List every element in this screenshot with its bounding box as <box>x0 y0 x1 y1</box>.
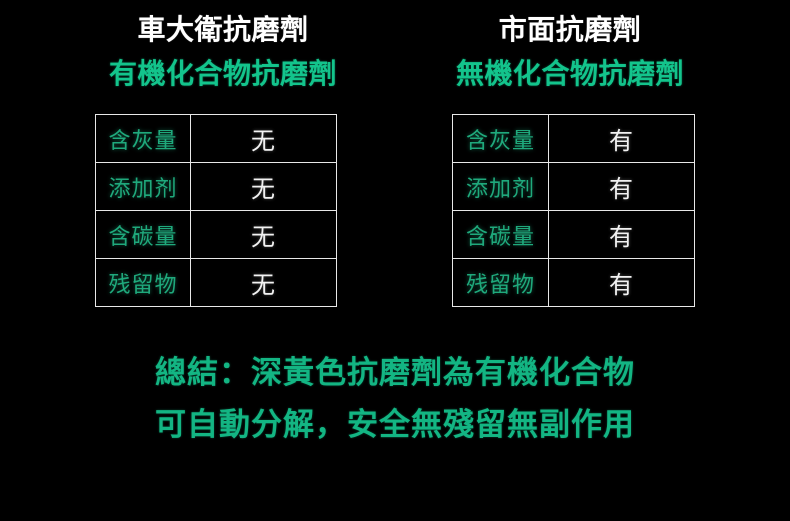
table-cell-label: 含灰量 <box>96 115 191 163</box>
table-cell-value: 无 <box>191 115 337 163</box>
table-cell-value: 有 <box>549 163 695 211</box>
column-title-right: 市面抗磨劑 <box>404 16 736 48</box>
row-label: 含灰量 <box>108 129 177 154</box>
table-cell-label: 添加剂 <box>96 163 191 211</box>
table-cell-value: 有 <box>549 211 695 259</box>
table-cell-label: 含碳量 <box>453 211 549 259</box>
table-row: 残留物 有 <box>453 259 695 307</box>
table-row: 含碳量 无 <box>96 211 337 259</box>
row-value: 有 <box>609 271 634 299</box>
column-subtitle-left: 有機化合物抗磨劑 <box>58 60 388 92</box>
table-row: 添加剂 有 <box>453 163 695 211</box>
table-cell-value: 有 <box>549 115 695 163</box>
table-cell-label: 残留物 <box>453 259 549 307</box>
comparison-table-right: 含灰量 有 添加剂 有 含碳量 有 <box>452 114 695 307</box>
conclusion-block: 總結：深黃色抗磨劑為有機化合物 可自動分解，安全無殘留無副作用 <box>0 358 790 441</box>
row-label: 含碳量 <box>466 225 535 250</box>
row-value: 有 <box>609 127 634 155</box>
table-cell-value: 无 <box>191 211 337 259</box>
table-cell-value: 无 <box>191 163 337 211</box>
row-value: 无 <box>251 271 276 299</box>
row-label: 含灰量 <box>466 129 535 154</box>
table-row: 含灰量 有 <box>453 115 695 163</box>
table-cell-label: 添加剂 <box>453 163 549 211</box>
row-value: 无 <box>251 127 276 155</box>
row-label: 含碳量 <box>108 225 177 250</box>
table-cell-value: 有 <box>549 259 695 307</box>
row-value: 有 <box>609 223 634 251</box>
table-row: 残留物 无 <box>96 259 337 307</box>
slide-canvas: 車大衛抗磨劑 有機化合物抗磨劑 市面抗磨劑 無機化合物抗磨劑 含灰量 无 添加剂 <box>0 0 790 521</box>
table-cell-label: 含碳量 <box>96 211 191 259</box>
row-label: 添加剂 <box>466 177 535 202</box>
conclusion-line-2: 可自動分解，安全無殘留無副作用 <box>0 410 790 441</box>
column-title-left: 車大衛抗磨劑 <box>58 16 388 48</box>
row-value: 有 <box>609 175 634 203</box>
table-cell-label: 残留物 <box>96 259 191 307</box>
table-cell-value: 无 <box>191 259 337 307</box>
row-label: 残留物 <box>108 273 177 298</box>
column-subtitle-right: 無機化合物抗磨劑 <box>404 60 736 92</box>
row-label: 添加剂 <box>108 177 177 202</box>
table-row: 添加剂 无 <box>96 163 337 211</box>
column-heading-right: 市面抗磨劑 無機化合物抗磨劑 <box>404 16 736 92</box>
table-cell-label: 含灰量 <box>453 115 549 163</box>
column-heading-left: 車大衛抗磨劑 有機化合物抗磨劑 <box>58 16 388 92</box>
row-value: 无 <box>251 175 276 203</box>
table-row: 含碳量 有 <box>453 211 695 259</box>
conclusion-line-1: 總結：深黃色抗磨劑為有機化合物 <box>0 358 790 389</box>
row-label: 残留物 <box>466 273 535 298</box>
table-row: 含灰量 无 <box>96 115 337 163</box>
comparison-table-left: 含灰量 无 添加剂 无 含碳量 无 <box>95 114 337 307</box>
row-value: 无 <box>251 223 276 251</box>
